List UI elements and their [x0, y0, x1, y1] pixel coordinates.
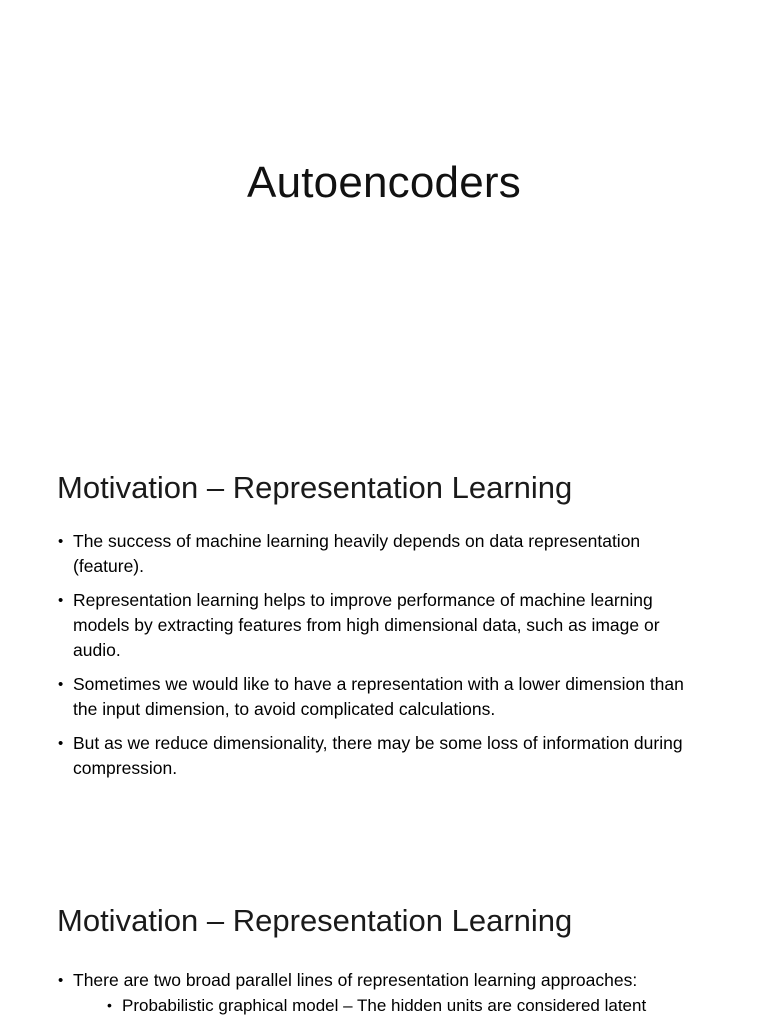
list-item-text: Sometimes we would like to have a repres… — [73, 674, 684, 719]
bullet-list: • There are two broad parallel lines of … — [57, 968, 717, 1018]
list-item: • The success of machine learning heavil… — [57, 529, 697, 579]
list-item: • But as we reduce dimensionality, there… — [57, 731, 697, 781]
list-item-text: Representation learning helps to improve… — [73, 590, 660, 660]
bullet-list: • The success of machine learning heavil… — [57, 529, 697, 781]
bullet-dot-icon: • — [107, 993, 112, 1018]
list-item: • There are two broad parallel lines of … — [57, 968, 717, 1018]
slide-motivation-2: Motivation – Representation Learning • T… — [0, 903, 768, 1018]
bullet-dot-icon: • — [58, 672, 63, 697]
bullet-dot-icon: • — [58, 588, 63, 613]
sub-list-item: • Probabilistic graphical model – The hi… — [106, 993, 717, 1018]
bullet-dot-icon: • — [58, 731, 63, 756]
bullet-dot-icon: • — [58, 529, 63, 554]
bullet-dot-icon: • — [58, 968, 63, 993]
list-item-text: But as we reduce dimensionality, there m… — [73, 733, 683, 778]
slide-heading: Motivation – Representation Learning — [57, 903, 768, 940]
list-item: • Sometimes we would like to have a repr… — [57, 672, 697, 722]
sub-list-item-text: Probabilistic graphical model – The hidd… — [122, 996, 646, 1015]
slide-motivation-1: Motivation – Representation Learning • T… — [0, 470, 768, 781]
sub-bullet-list: • Probabilistic graphical model – The hi… — [106, 993, 717, 1018]
deck-title: Autoencoders — [0, 160, 768, 207]
list-item-text: The success of machine learning heavily … — [73, 531, 640, 576]
title-slide: Autoencoders — [0, 160, 768, 207]
list-item-text: There are two broad parallel lines of re… — [73, 970, 637, 990]
document-page: Autoencoders Motivation – Representation… — [0, 0, 768, 1024]
slide-heading: Motivation – Representation Learning — [57, 470, 768, 507]
list-item: • Representation learning helps to impro… — [57, 588, 697, 663]
